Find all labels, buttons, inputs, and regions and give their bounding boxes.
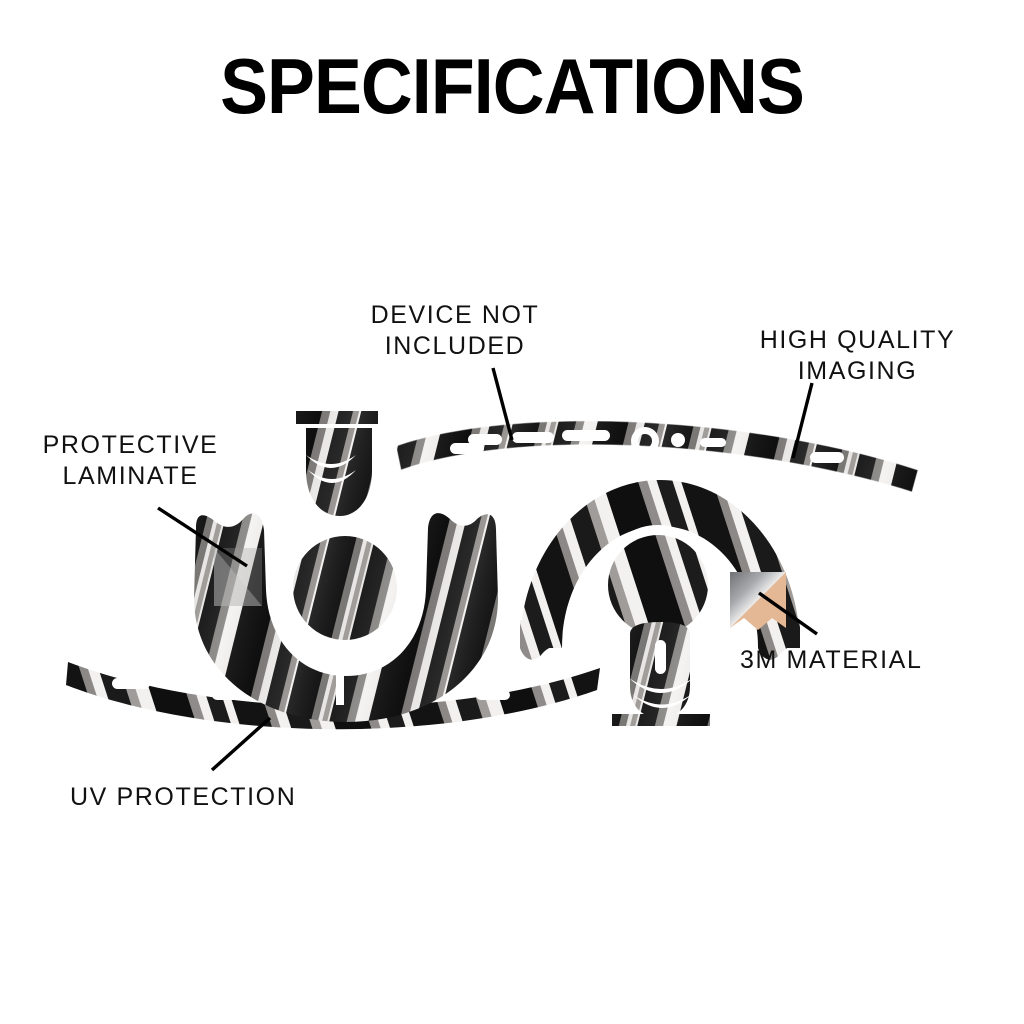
- skin-decal-illustration: [0, 0, 1024, 1024]
- skin-piece-lower-right-tabs: [612, 622, 710, 726]
- specifications-graphic: SPECIFICATIONS: [0, 0, 1024, 1024]
- skin-left-lens-island: [293, 536, 397, 640]
- callout-device-not-included: DEVICE NOT INCLUDED: [320, 300, 590, 362]
- leader-uv-protection: [212, 718, 270, 770]
- callout-protective-laminate: PROTECTIVE LAMINATE: [8, 430, 253, 492]
- 3m-material-swatch: [730, 572, 786, 630]
- skin-right-lens-island: [608, 535, 708, 635]
- callout-3m-material: 3M MATERIAL: [740, 645, 990, 676]
- callout-uv-protection: UV PROTECTION: [70, 782, 350, 813]
- callout-high-quality-imaging: HIGH QUALITY IMAGING: [720, 325, 995, 387]
- skin-piece-upper-left-tabs: [296, 411, 378, 516]
